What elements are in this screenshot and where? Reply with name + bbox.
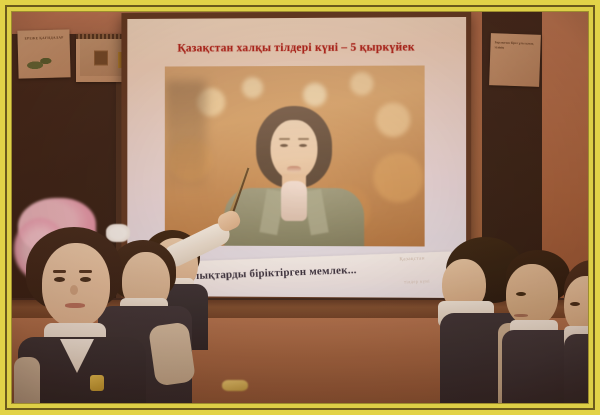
girl-far-right-vest [564, 334, 588, 403]
slide-caption-faint-top: Қазақстан [399, 256, 425, 262]
poster-right-wall-text: Барлығын бірге ұлы қазақ тілінің [494, 40, 537, 52]
classroom-scene: ЕРЕЖЕ ҚАҒИДАЛАР Барлығын бірге ұлы қазақ… [12, 12, 588, 403]
girl-second-sleeve [148, 322, 196, 387]
slide-title: Қазақстан халқы тілдері күні – 5 қыркүйе… [127, 41, 466, 55]
girl-front-badge [90, 375, 104, 391]
classroom-photograph: ЕРЕЖЕ ҚАҒИДАЛАР Барлығын бірге ұлы қазақ… [0, 0, 600, 415]
slide-photo [165, 65, 425, 246]
boy-center-eye [516, 292, 526, 296]
projector-wash [165, 65, 425, 246]
girl-far-right-eye [570, 302, 580, 306]
yellow-object-on-ledge [222, 380, 248, 391]
student-girl-far-right [564, 260, 588, 403]
poster-left-top-text: ЕРЕЖЕ ҚАҒИДАЛАР [23, 35, 66, 41]
slide-caption-faint-bottom: тілдер күні [404, 278, 430, 284]
poster-left-top: ЕРЕЖЕ ҚАҒИДАЛАР [17, 29, 70, 78]
student-girl-front-left [18, 227, 150, 403]
girl-front-mouth [65, 303, 85, 308]
girl-front-brow-right [79, 270, 92, 273]
poster-leaf-decoration [24, 53, 61, 74]
poster-framed-icon [94, 51, 108, 66]
girl-front-eye-right [80, 277, 91, 282]
boy-center-head [506, 264, 558, 326]
boy-center-mouth [514, 314, 528, 317]
girl-front-eye-left [54, 277, 65, 282]
girl-front-brow-left [53, 270, 66, 273]
girl-front-sleeve [14, 357, 40, 403]
girl-front-nose [70, 285, 78, 295]
poster-right-wall: Барлығын бірге ұлы қазақ тілінің [489, 33, 541, 87]
